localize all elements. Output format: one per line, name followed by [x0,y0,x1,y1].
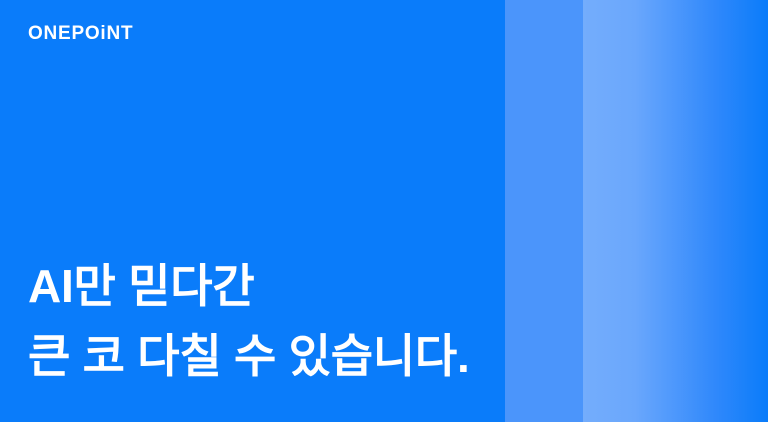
promo-banner: ONEPOiNT AI만 믿다간 큰 코 다칠 수 있습니다. [0,0,768,422]
headline-line-2: 큰 코 다칠 수 있습니다. [28,322,470,392]
headline-line-1: AI만 믿다간 [28,252,470,322]
banner-content: ONEPOiNT AI만 믿다간 큰 코 다칠 수 있습니다. [0,0,768,422]
headline: AI만 믿다간 큰 코 다칠 수 있습니다. [28,252,470,392]
onepoint-wordmark-icon: ONEPOiNT [28,24,133,43]
brand-logo: ONEPOiNT [28,24,133,43]
